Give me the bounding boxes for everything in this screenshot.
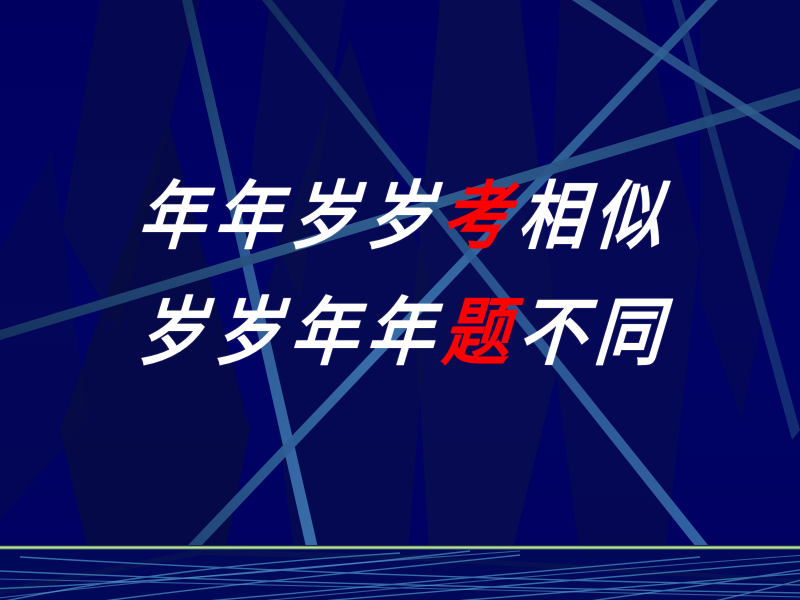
slide-footer-band (0, 549, 800, 600)
slide-divider-line (0, 545, 800, 550)
slide-background (0, 0, 800, 600)
presentation-slide: 年 年 岁 岁 考 相 似 岁 岁 年 年 题 不 同 (0, 0, 800, 600)
footer-band-decor (0, 549, 800, 600)
